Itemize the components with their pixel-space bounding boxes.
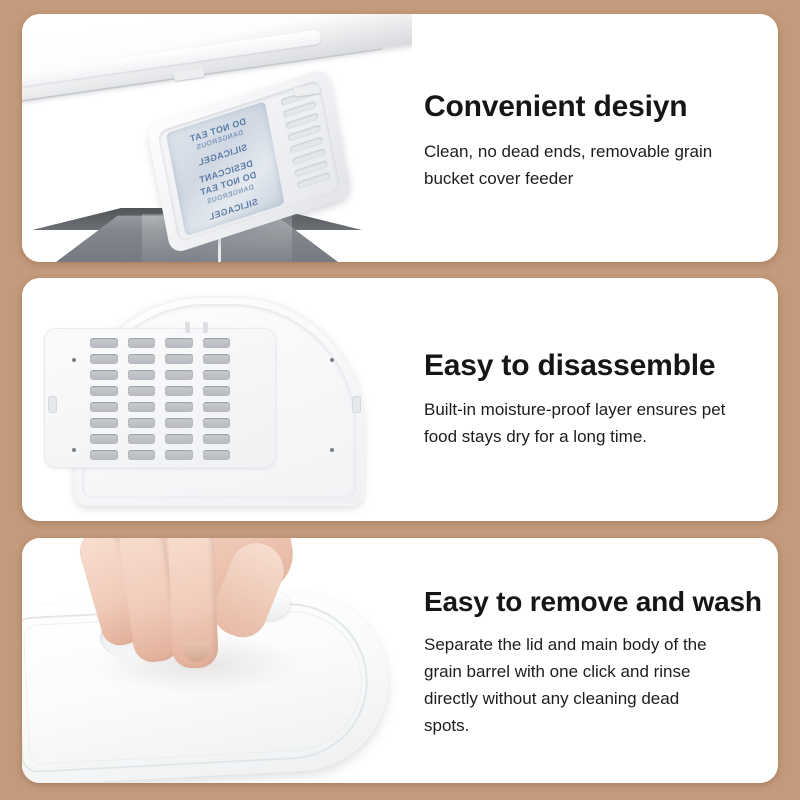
side-clip: [48, 396, 57, 413]
vent-slot: [128, 386, 156, 396]
vent-slot: [203, 450, 231, 460]
vent-slot: [203, 386, 231, 396]
vent-slot: [90, 418, 118, 428]
lid-panel: [22, 14, 412, 105]
vent-slot: [128, 354, 156, 364]
vent-slot: [90, 370, 118, 380]
vent-slot: [128, 450, 156, 460]
feature-card-easy-to-disassemble: Easy to disassemble Built-in moisture-pr…: [22, 278, 778, 521]
feature-card-convenient-design: DO NOT EAT DANGEROUS SILICAGEL DESICCANT…: [22, 14, 778, 262]
screw-point: [330, 448, 334, 452]
screw-point: [330, 358, 334, 362]
vent-slot: [90, 434, 118, 444]
silica-gel-packet: DO NOT EAT DANGEROUS SILICAGEL DESICCANT…: [166, 101, 285, 236]
vent-slot: [90, 450, 118, 460]
feature-card-easy-to-remove-and-wash: Easy to remove and wash Separate the lid…: [22, 538, 778, 783]
side-clip: [352, 396, 361, 413]
product-image-hand-pressing-release-button: [22, 538, 412, 783]
vent-slot: [165, 338, 193, 348]
vent-slot: [90, 402, 118, 412]
vent-slot: [165, 418, 193, 428]
plate-tab: [203, 322, 208, 333]
feature-copy-easy-to-remove-and-wash: Easy to remove and wash Separate the lid…: [412, 538, 778, 783]
moisture-proof-plate: [44, 328, 276, 468]
screw-point: [72, 358, 76, 362]
vent-slot: [90, 338, 118, 348]
vent-slot: [165, 434, 193, 444]
vent-slot: [165, 370, 193, 380]
vent-slot: [165, 354, 193, 364]
feature-heading: Easy to remove and wash: [424, 586, 762, 617]
product-image-lid-and-desiccant-tray: DO NOT EAT DANGEROUS SILICAGEL DESICCANT…: [22, 14, 412, 262]
feature-copy-easy-to-disassemble: Easy to disassemble Built-in moisture-pr…: [412, 278, 778, 521]
vent-slot: [90, 354, 118, 364]
vent-slot: [90, 386, 118, 396]
vent-slot: [203, 354, 231, 364]
vent-grid: [90, 338, 230, 460]
vent-slot: [203, 402, 231, 412]
vent-slot: [128, 370, 156, 380]
vent-slot: [203, 370, 231, 380]
screw-point: [72, 448, 76, 452]
feature-body: Built-in moisture-proof layer ensures pe…: [424, 396, 734, 450]
feature-body: Clean, no dead ends, removable grain buc…: [424, 138, 734, 192]
vent-slot: [203, 418, 231, 428]
vent-slot: [203, 434, 231, 444]
hand: [80, 538, 300, 682]
feature-heading: Convenient desiyn: [424, 90, 758, 124]
feature-body: Separate the lid and main body of the gr…: [424, 631, 724, 739]
infographic-page: DO NOT EAT DANGEROUS SILICAGEL DESICCANT…: [0, 0, 800, 800]
vent-slot: [165, 402, 193, 412]
vent-slot: [128, 434, 156, 444]
vent-slot: [128, 338, 156, 348]
product-image-lid-underside-vent-grid: [22, 278, 412, 521]
vent-slot: [165, 450, 193, 460]
vent-slot: [128, 418, 156, 428]
vent-slot: [165, 386, 193, 396]
vent-slot: [128, 402, 156, 412]
feature-heading: Easy to disassemble: [424, 349, 758, 383]
feature-copy-convenient-design: Convenient desiyn Clean, no dead ends, r…: [412, 14, 778, 262]
plate-tab: [185, 322, 190, 333]
vent-slot: [203, 338, 231, 348]
